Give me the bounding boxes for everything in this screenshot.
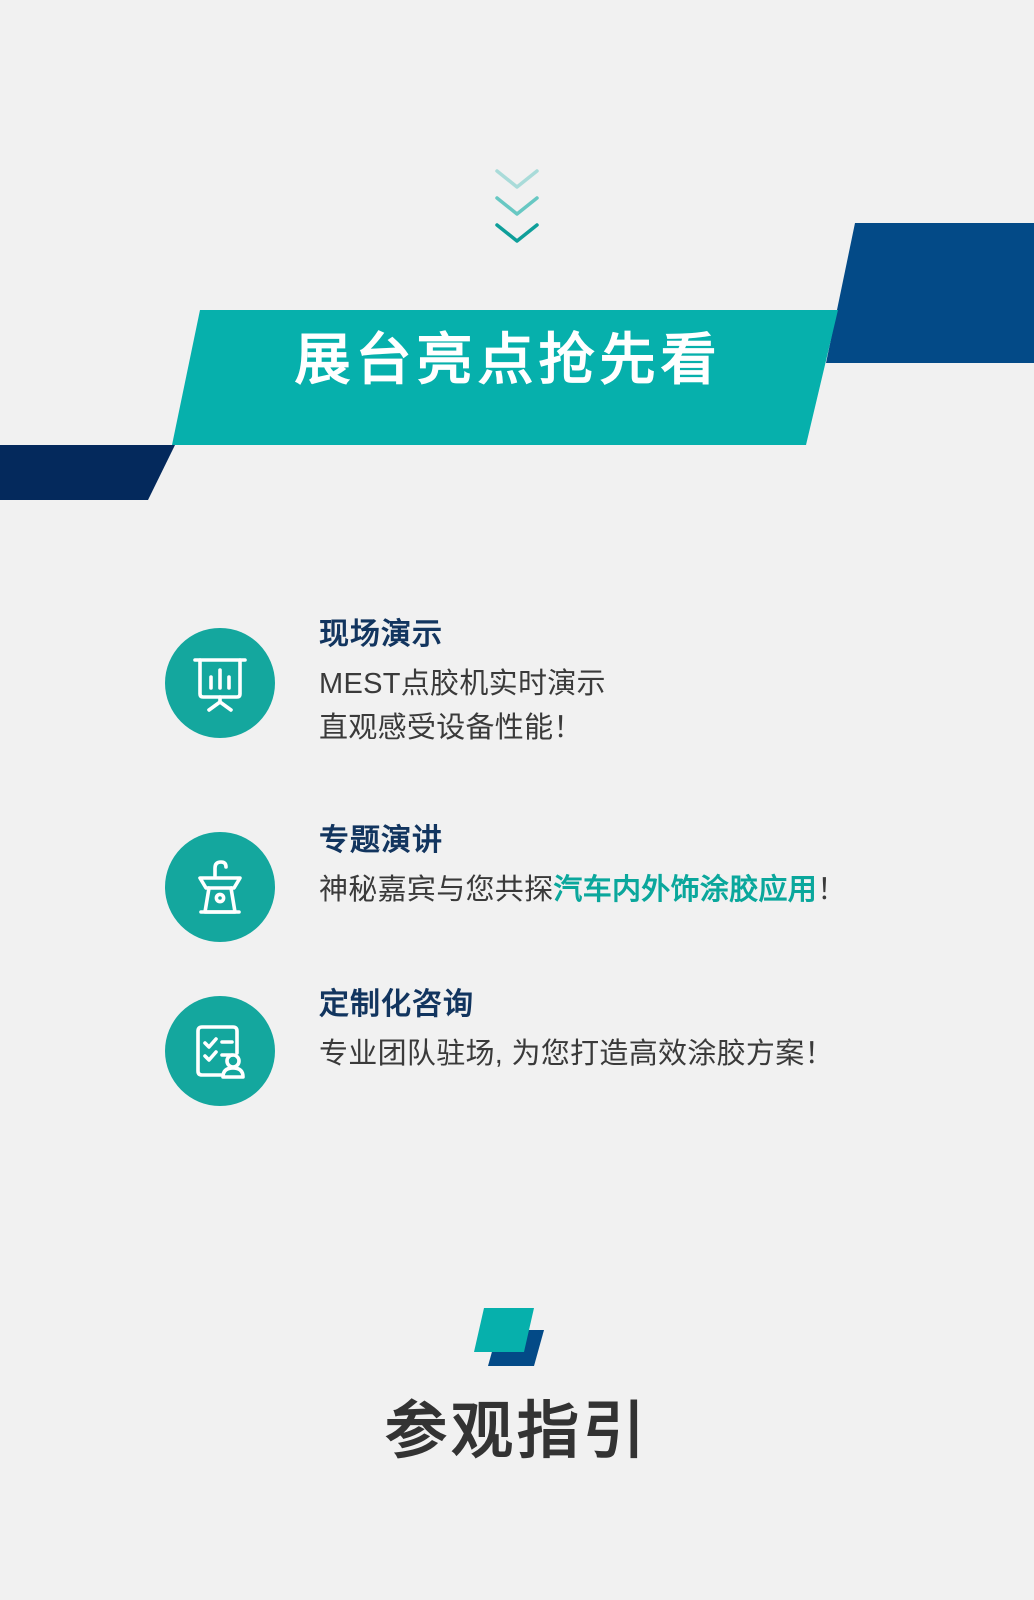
footer-section: 参观指引 [0,1300,1034,1466]
feature-list: 现场演示 MEST点胶机实时演示 直观感受设备性能！ [0,608,1034,1128]
chevron-down-icon [494,195,540,217]
feature-description-line: 直观感受设备性能！ [319,706,606,751]
hero-title: 展台亮点抢先看 [0,332,1025,388]
feature-icon-badge [165,832,275,942]
feature-title: 现场演示 [319,616,606,654]
feature-text-block: 专题演讲 神秘嘉宾与您共探汽车内外饰涂胶应用！ [319,810,846,912]
feature-item-consulting[interactable]: 定制化咨询 专业团队驻场, 为您打造高效涂胶方案！ [0,978,1034,1128]
desc-plain-text: ！ [817,874,846,906]
logo-shape-teal [474,1308,534,1352]
desc-highlight-text: 汽车内外饰涂胶应用 [553,874,817,906]
poster-page: 展台亮点抢先看 现 [0,0,1034,1600]
clipboard-person-icon [187,1018,253,1084]
feature-icon-badge [165,996,275,1106]
chevron-down-icon [494,168,540,190]
feature-item-keynote[interactable]: 专题演讲 神秘嘉宾与您共探汽车内外饰涂胶应用！ [0,810,1034,978]
stacked-parallelograms-logo [462,1300,572,1370]
feature-text-block: 定制化咨询 专业团队驻场, 为您打造高效涂胶方案！ [319,978,834,1076]
presentation-chart-icon [187,650,253,716]
feature-text-block: 现场演示 MEST点胶机实时演示 直观感受设备性能！ [319,608,606,751]
footer-title: 参观指引 [0,1398,1034,1466]
feature-description-line: MEST点胶机实时演示 [319,662,606,707]
feature-description-line: 专业团队驻场, 为您打造高效涂胶方案！ [319,1032,834,1077]
accent-shape-bottom-left [0,445,175,500]
feature-title: 专题演讲 [319,822,846,860]
feature-icon-badge [165,628,275,738]
feature-description-line: 神秘嘉宾与您共探汽车内外饰涂胶应用！ [319,868,846,913]
desc-plain-text: 神秘嘉宾与您共探 [319,874,553,906]
podium-icon [187,854,253,920]
feature-item-live-demo[interactable]: 现场演示 MEST点胶机实时演示 直观感受设备性能！ [0,608,1034,810]
feature-title: 定制化咨询 [319,986,834,1024]
